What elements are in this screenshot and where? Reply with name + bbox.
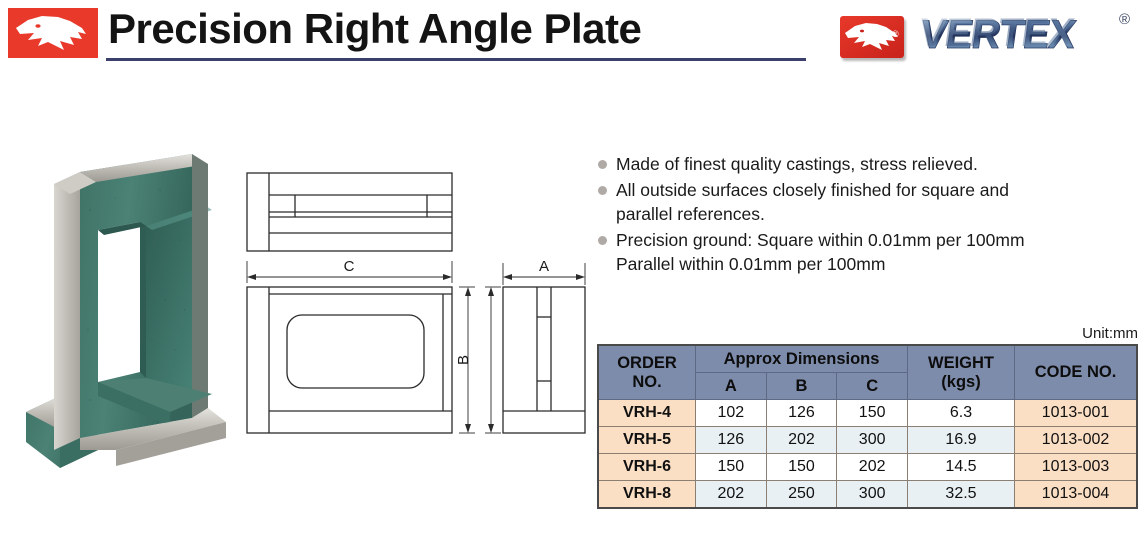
table-header-row-1: ORDER NO. Approx Dimensions WEIGHT (kgs)… xyxy=(598,345,1137,373)
svg-text:VERTEX: VERTEX xyxy=(916,12,1077,55)
cell-dim-a: 202 xyxy=(696,481,767,509)
cell-code-no: 1013-002 xyxy=(1015,427,1138,454)
feature-text-line: parallel references. xyxy=(616,204,765,224)
cell-order-no: VRH-6 xyxy=(598,454,696,481)
dimension-label-b: B xyxy=(455,355,472,365)
table-body: VRH-4 102 126 150 6.3 1013-001 VRH-5 126… xyxy=(598,400,1137,509)
weight-line2: (kgs) xyxy=(941,373,980,391)
cell-weight: 32.5 xyxy=(908,481,1015,509)
brand-logo: ® xyxy=(822,4,1134,66)
cell-order-no: VRH-4 xyxy=(598,400,696,427)
cell-dim-c: 150 xyxy=(837,400,908,427)
cell-code-no: 1013-001 xyxy=(1015,400,1138,427)
side-view-drawing xyxy=(503,287,585,433)
cell-dim-a: 102 xyxy=(696,400,767,427)
weight-line1: WEIGHT xyxy=(928,354,994,372)
cell-code-no: 1013-003 xyxy=(1015,454,1138,481)
feature-item: Precision ground: Square within 0.01mm p… xyxy=(598,228,1138,277)
product-photo xyxy=(20,150,245,470)
technical-drawings: C A B xyxy=(235,155,595,465)
dimension-b-side xyxy=(485,287,501,433)
features-list: Made of finest quality castings, stress … xyxy=(598,152,1138,278)
page-header: Precision Right Angle Plate ® xyxy=(0,0,1142,72)
feature-item: All outside surfaces closely finished fo… xyxy=(598,178,1138,227)
dimension-label-a: A xyxy=(539,258,549,275)
cell-code-no: 1013-004 xyxy=(1015,481,1138,509)
eagle-head-icon xyxy=(8,8,98,58)
feature-text: All outside surfaces closely finished fo… xyxy=(616,178,1138,227)
front-view-drawing xyxy=(247,287,452,433)
cell-dim-a: 126 xyxy=(696,427,767,454)
table-row: VRH-8 202 250 300 32.5 1013-004 xyxy=(598,481,1137,509)
cell-dim-c: 300 xyxy=(837,481,908,509)
cell-weight: 6.3 xyxy=(908,400,1015,427)
cell-dim-b: 250 xyxy=(766,481,837,509)
cell-dim-b: 202 xyxy=(766,427,837,454)
column-header-order-no: ORDER NO. xyxy=(598,345,696,400)
cell-dim-c: 300 xyxy=(837,427,908,454)
feature-text: Precision ground: Square within 0.01mm p… xyxy=(616,228,1138,277)
table-row: VRH-4 102 126 150 6.3 1013-001 xyxy=(598,400,1137,427)
column-header-dim-b: B xyxy=(766,373,837,400)
table-row: VRH-5 126 202 300 16.9 1013-002 xyxy=(598,427,1137,454)
bullet-icon xyxy=(598,236,607,245)
top-view-drawing xyxy=(247,173,452,251)
page-title: Precision Right Angle Plate xyxy=(108,2,641,56)
title-underline-rule xyxy=(106,58,806,61)
cell-weight: 14.5 xyxy=(908,454,1015,481)
feature-text-line: All outside surfaces closely finished fo… xyxy=(616,180,1009,200)
specification-table-container: ORDER NO. Approx Dimensions WEIGHT (kgs)… xyxy=(597,344,1138,509)
column-header-dim-a: A xyxy=(696,373,767,400)
cell-dim-b: 150 xyxy=(766,454,837,481)
column-header-code-no: CODE NO. xyxy=(1015,345,1138,400)
column-header-approx-dimensions: Approx Dimensions xyxy=(696,345,908,373)
feature-text-line: Parallel within 0.01mm per 100mm xyxy=(616,254,885,274)
column-header-weight: WEIGHT (kgs) xyxy=(908,345,1015,400)
order-no-line1: ORDER xyxy=(617,354,677,372)
bullet-icon xyxy=(598,160,607,169)
cell-dim-c: 202 xyxy=(837,454,908,481)
table-row: VRH-6 150 150 202 14.5 1013-003 xyxy=(598,454,1137,481)
table-header: ORDER NO. Approx Dimensions WEIGHT (kgs)… xyxy=(598,345,1137,400)
bullet-icon xyxy=(598,186,607,195)
cell-order-no: VRH-5 xyxy=(598,427,696,454)
brand-wordmark: VERTEX VERTEX xyxy=(910,12,1110,60)
specification-table: ORDER NO. Approx Dimensions WEIGHT (kgs)… xyxy=(597,344,1138,509)
unit-label: Unit:mm xyxy=(1082,325,1138,342)
brand-eagle-head-icon: ® xyxy=(840,16,904,58)
cell-dim-b: 126 xyxy=(766,400,837,427)
cell-dim-a: 150 xyxy=(696,454,767,481)
feature-item: Made of finest quality castings, stress … xyxy=(598,152,1138,177)
cell-weight: 16.9 xyxy=(908,427,1015,454)
dimension-label-c: C xyxy=(344,258,355,275)
column-header-dim-c: C xyxy=(837,373,908,400)
cell-order-no: VRH-8 xyxy=(598,481,696,509)
registered-trademark-mark: ® xyxy=(1119,12,1130,27)
brand-badge-registered-mark: ® xyxy=(892,30,899,39)
order-no-line2: NO. xyxy=(632,373,661,391)
feature-text-line: Precision ground: Square within 0.01mm p… xyxy=(616,230,1025,250)
feature-text: Made of finest quality castings, stress … xyxy=(616,152,1138,177)
